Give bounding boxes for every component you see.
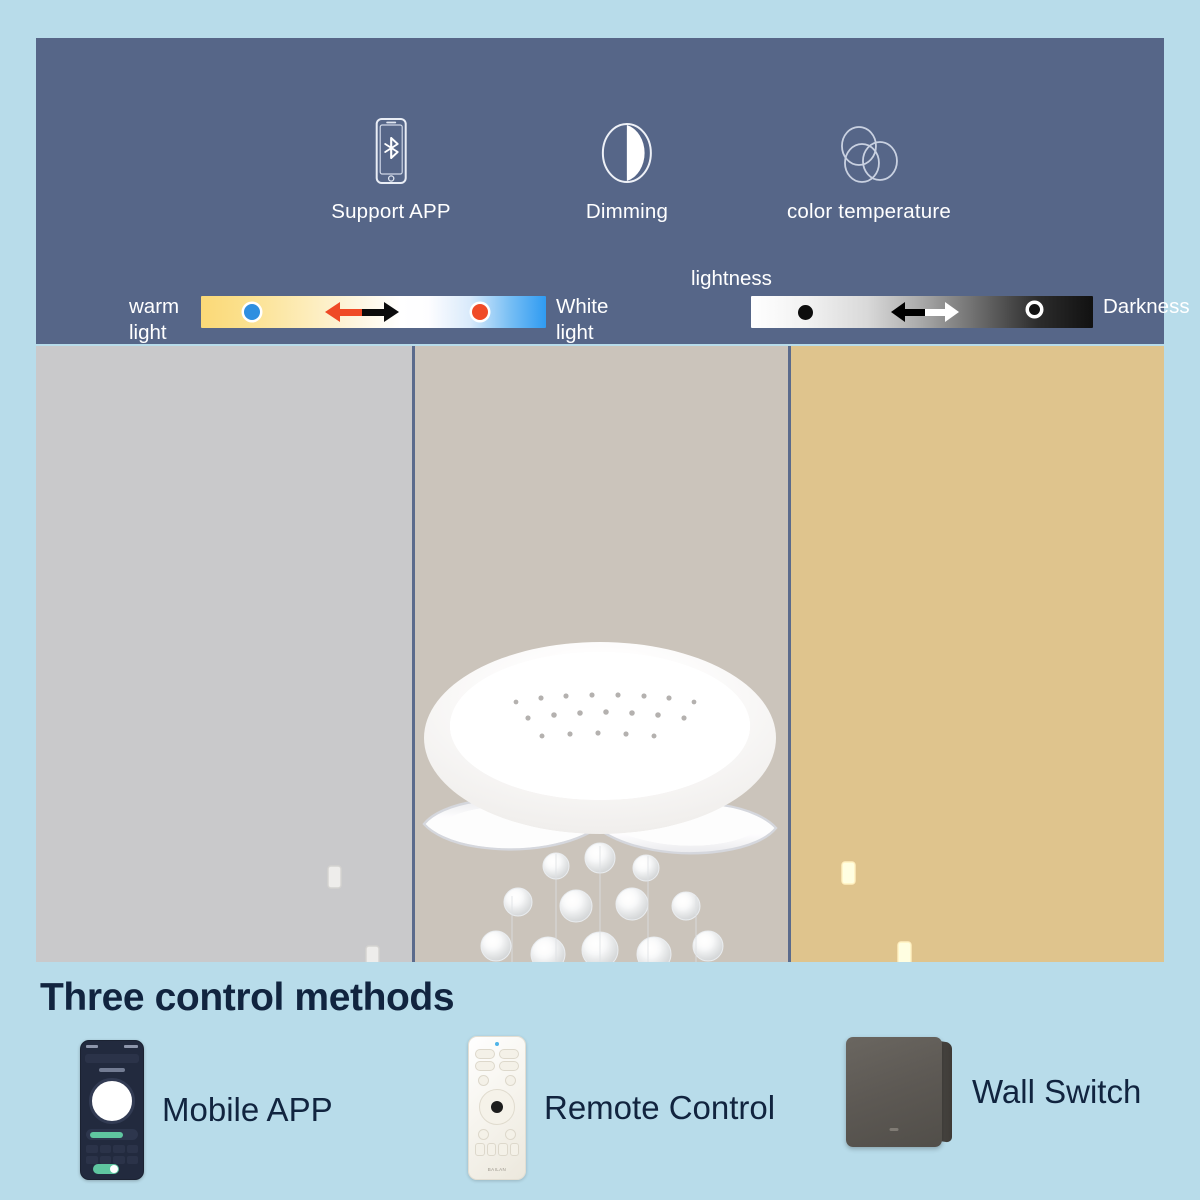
- pane-divider-left: [412, 346, 415, 962]
- color-temperature-arrows: [325, 302, 399, 322]
- remote-button-row-1: [475, 1049, 519, 1059]
- white-light-label: White light: [556, 294, 608, 346]
- brightness-black-handle[interactable]: [798, 305, 813, 320]
- remote-small-button-left: [478, 1075, 489, 1086]
- arrow-right-white: [925, 302, 959, 322]
- natural-white-light-pane: [413, 346, 789, 962]
- remote-button-row-2: [475, 1061, 519, 1071]
- color-temperature-blue-handle[interactable]: [244, 304, 260, 320]
- feature-color-temperature: color temperature: [787, 116, 951, 224]
- control-method-remote: BAILAN Remote Control: [468, 1036, 775, 1180]
- phone-app-titlebar: [85, 1054, 139, 1063]
- chandelier-artwork-natural: [413, 346, 789, 962]
- feature-row: Support APP Dimming: [36, 38, 1164, 218]
- phone-power-toggle: [93, 1164, 119, 1174]
- chandelier-artwork-cool: [36, 346, 413, 962]
- arrow-right-black: [362, 302, 399, 322]
- lightness-label: lightness: [691, 266, 772, 292]
- control-methods-section: Three control methods Mobile APP: [0, 962, 1200, 1200]
- control-method-label: Mobile APP: [162, 1091, 333, 1129]
- control-method-mobile-app: Mobile APP: [80, 1040, 333, 1180]
- wall-switch-indicator: [890, 1128, 899, 1131]
- feature-support-app: Support APP: [331, 116, 451, 224]
- remote-scene-buttons: [475, 1143, 519, 1156]
- brightness-arrows: [891, 302, 959, 322]
- phone-brightness-dial: [89, 1078, 135, 1124]
- arrow-left-red: [325, 302, 362, 322]
- product-photo-panel: [36, 346, 1164, 962]
- control-method-label: Wall Switch: [972, 1073, 1141, 1111]
- smartphone-app-icon: [80, 1040, 144, 1180]
- cool-white-light-pane: [36, 346, 413, 962]
- brightness-ring-handle[interactable]: [1029, 304, 1040, 315]
- wall-switch-icon: [846, 1034, 954, 1150]
- half-moon-icon: [586, 116, 668, 186]
- phone-icon-grid: [86, 1145, 138, 1164]
- remote-small-button-right: [505, 1075, 516, 1086]
- chandelier-artwork-warm: [789, 346, 1164, 962]
- phone-bluetooth-icon: [331, 116, 451, 186]
- feature-label: Dimming: [586, 200, 668, 224]
- slider-zone: warm light White light: [36, 246, 1164, 336]
- feature-dimming: Dimming: [586, 116, 668, 224]
- section-heading: Three control methods: [40, 976, 454, 1020]
- phone-status-bar: [86, 1045, 138, 1050]
- infographic-page: Support APP Dimming: [0, 0, 1200, 1200]
- color-temperature-red-handle[interactable]: [472, 304, 488, 320]
- remote-brand-label: BAILAN: [469, 1167, 525, 1172]
- phone-room-label: [81, 1068, 143, 1074]
- darkness-label: Darkness: [1103, 294, 1190, 320]
- arrow-left-black: [891, 302, 925, 322]
- feature-label: color temperature: [787, 200, 951, 224]
- control-method-label: Remote Control: [544, 1089, 775, 1127]
- remote-control-icon: BAILAN: [468, 1036, 526, 1180]
- three-circles-icon: [787, 116, 951, 186]
- feature-label: Support APP: [331, 200, 451, 224]
- phone-slider: [86, 1129, 138, 1140]
- remote-led: [495, 1042, 499, 1046]
- control-method-wall-switch: Wall Switch: [846, 1034, 1141, 1150]
- feature-header-panel: Support APP Dimming: [36, 38, 1164, 344]
- remote-icon-button-right: [505, 1129, 516, 1140]
- remote-dpad: [479, 1089, 515, 1125]
- pane-divider-right: [788, 346, 791, 962]
- warm-light-label: warm light: [129, 294, 179, 346]
- warm-light-pane: [789, 346, 1164, 962]
- remote-icon-button-left: [478, 1129, 489, 1140]
- wall-switch-face: [846, 1037, 942, 1147]
